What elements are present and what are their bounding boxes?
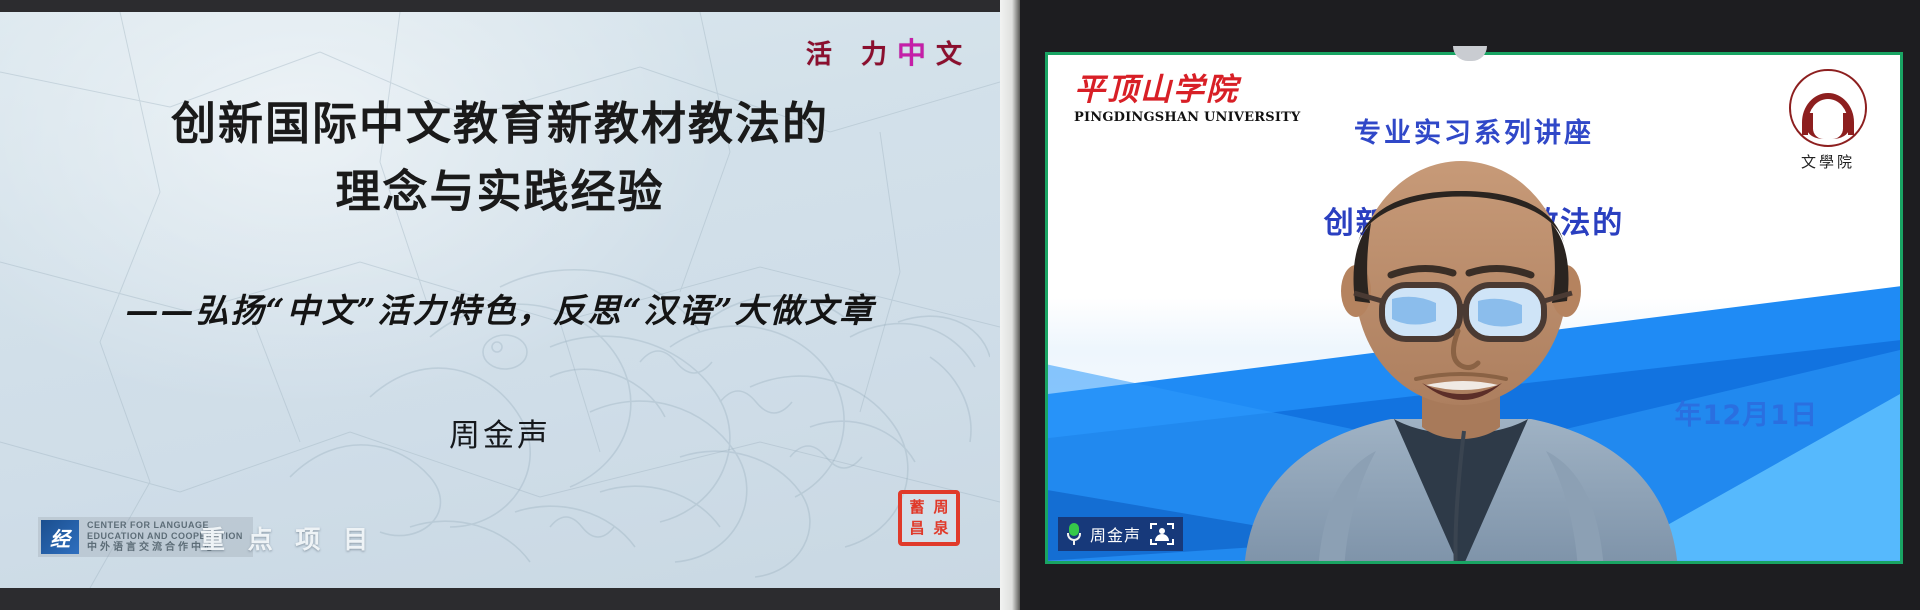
slide-title-line-1: 创新国际中文教育新教材教法的 [171, 97, 829, 150]
speaker-webcam-figure [1226, 151, 1696, 561]
clec-logo-icon: 经 [41, 520, 79, 554]
seal-char-3: 昌 [909, 521, 924, 536]
slide-letterbox-top [0, 0, 1020, 12]
slide-title: 创新国际中文教育新教材教法的 理念与实践经验 [0, 90, 1000, 227]
speaker-video-pane: 平顶山学院 PINGDINGSHAN UNIVERSITY 文學院 专业实习系列… [1020, 0, 1920, 610]
slide-title-line-2: 理念与实践经验 [0, 158, 1000, 226]
slide-subtitle: ——弘扬“中文”活力特色，反思“汉语”大做文章 [0, 284, 1000, 332]
slide-author: 周金声 [0, 410, 1000, 455]
video-shared-slide: 平顶山学院 PINGDINGSHAN UNIVERSITY 文學院 专业实习系列… [1048, 55, 1900, 561]
speaker-nametag: 周金声 [1058, 517, 1183, 551]
brand-accent: 中 [897, 36, 936, 70]
seal-char-2: 周 [933, 500, 948, 515]
college-seal-label: 文學院 [1780, 151, 1876, 172]
seal-char-1: 蓄 [909, 500, 924, 515]
lecture-series-heading: 专业实习系列讲座 [1048, 111, 1900, 150]
seal-char-4: 泉 [933, 521, 948, 536]
slide-edge-gutter [1000, 0, 1020, 610]
university-name-cn: 平顶山学院 [1074, 75, 1294, 106]
meeting-screen: 活 力中文 创新国际中文教育新教材教法的 理念与实践经验 ——弘扬“中文”活力特… [0, 0, 1920, 610]
microphone-icon[interactable] [1067, 523, 1081, 545]
slide-letterbox-bottom [0, 588, 1020, 610]
brand-left: 活 力 [806, 40, 897, 70]
key-project-label: 重 点 项 目 [200, 520, 375, 556]
brand-right: 文 [936, 40, 972, 70]
red-seal-stamp-icon: 蓄 周 昌 泉 [898, 490, 960, 546]
speaker-name: 周金声 [1090, 522, 1141, 546]
presentation-slide[interactable]: 活 力中文 创新国际中文教育新教材教法的 理念与实践经验 ——弘扬“中文”活力特… [0, 12, 1000, 588]
video-tile-active-speaker[interactable]: 平顶山学院 PINGDINGSHAN UNIVERSITY 文學院 专业实习系列… [1045, 52, 1903, 564]
face-frame-icon[interactable] [1150, 523, 1174, 545]
shared-screen-pane: 活 力中文 创新国际中文教育新教材教法的 理念与实践经验 ——弘扬“中文”活力特… [0, 0, 1020, 610]
video-slide-date: 年12月1日 [1675, 393, 1818, 432]
brand-mark-huoli-zhongwen: 活 力中文 [806, 30, 972, 72]
